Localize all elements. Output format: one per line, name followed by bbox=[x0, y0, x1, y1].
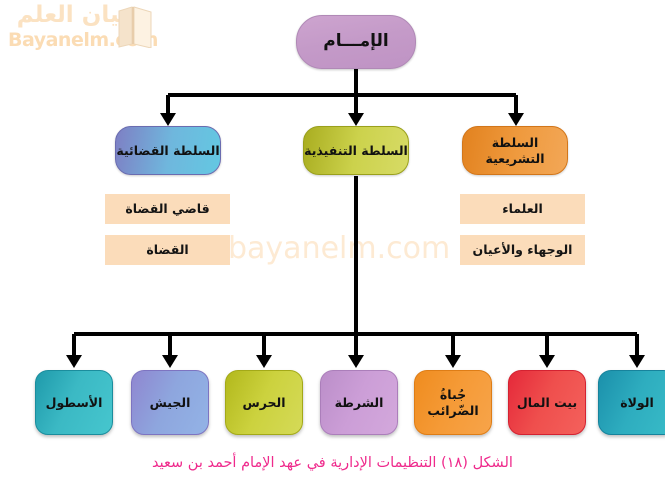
book-icon bbox=[118, 6, 152, 48]
node-chief-judge[interactable]: قاضي القضاة bbox=[105, 194, 230, 224]
node-executive-authority-label: السلطة التنفيذية bbox=[304, 143, 408, 159]
node-tax-collectors-label: جُباةُ الضّرائب bbox=[415, 387, 491, 418]
node-judicial-authority-label: السلطة القضائية bbox=[116, 143, 220, 159]
node-tax-collectors[interactable]: جُباةُ الضّرائب bbox=[414, 370, 492, 435]
node-imam[interactable]: الإمـــام bbox=[296, 15, 416, 69]
node-chief-judge-label: قاضي القضاة bbox=[105, 201, 230, 217]
node-guard[interactable]: الحرس bbox=[225, 370, 303, 435]
node-treasury-label: بيت المال bbox=[509, 395, 585, 411]
node-scholars-label: العلماء bbox=[460, 201, 585, 217]
node-governors-label: الولاة bbox=[599, 395, 665, 411]
node-scholars[interactable]: العلماء bbox=[460, 194, 585, 224]
node-army-label: الجيش bbox=[132, 395, 208, 411]
node-fleet[interactable]: الأسطول bbox=[35, 370, 113, 435]
node-legislative-authority[interactable]: السلطة التشريعية bbox=[462, 126, 568, 175]
figure-caption: الشكل (١٨) التنظيمات الإدارية في عهد الإ… bbox=[0, 455, 665, 471]
node-police[interactable]: الشرطة bbox=[320, 370, 398, 435]
node-notables-label: الوجهاء والأعيان bbox=[460, 242, 585, 258]
node-judges-label: القضاة bbox=[105, 242, 230, 258]
node-fleet-label: الأسطول bbox=[36, 395, 112, 411]
node-judicial-authority[interactable]: السلطة القضائية bbox=[115, 126, 221, 175]
node-guard-label: الحرس bbox=[226, 395, 302, 411]
node-treasury[interactable]: بيت المال bbox=[508, 370, 586, 435]
watermark-center-text: bayanelm.com bbox=[228, 231, 450, 266]
watermark-logo: بيان العلم Bayanelm.com bbox=[6, 2, 156, 54]
node-army[interactable]: الجيش bbox=[131, 370, 209, 435]
node-notables[interactable]: الوجهاء والأعيان bbox=[460, 235, 585, 265]
node-imam-label: الإمـــام bbox=[297, 31, 415, 52]
node-legislative-authority-label: السلطة التشريعية bbox=[463, 135, 567, 166]
node-police-label: الشرطة bbox=[321, 395, 397, 411]
watermark-arabic-text: بيان العلم bbox=[17, 2, 128, 28]
node-executive-authority[interactable]: السلطة التنفيذية bbox=[303, 126, 409, 175]
node-judges[interactable]: القضاة bbox=[105, 235, 230, 265]
node-governors[interactable]: الولاة bbox=[598, 370, 665, 435]
diagram-canvas: بيان العلم Bayanelm.com bayanelm.com bbox=[0, 0, 665, 491]
